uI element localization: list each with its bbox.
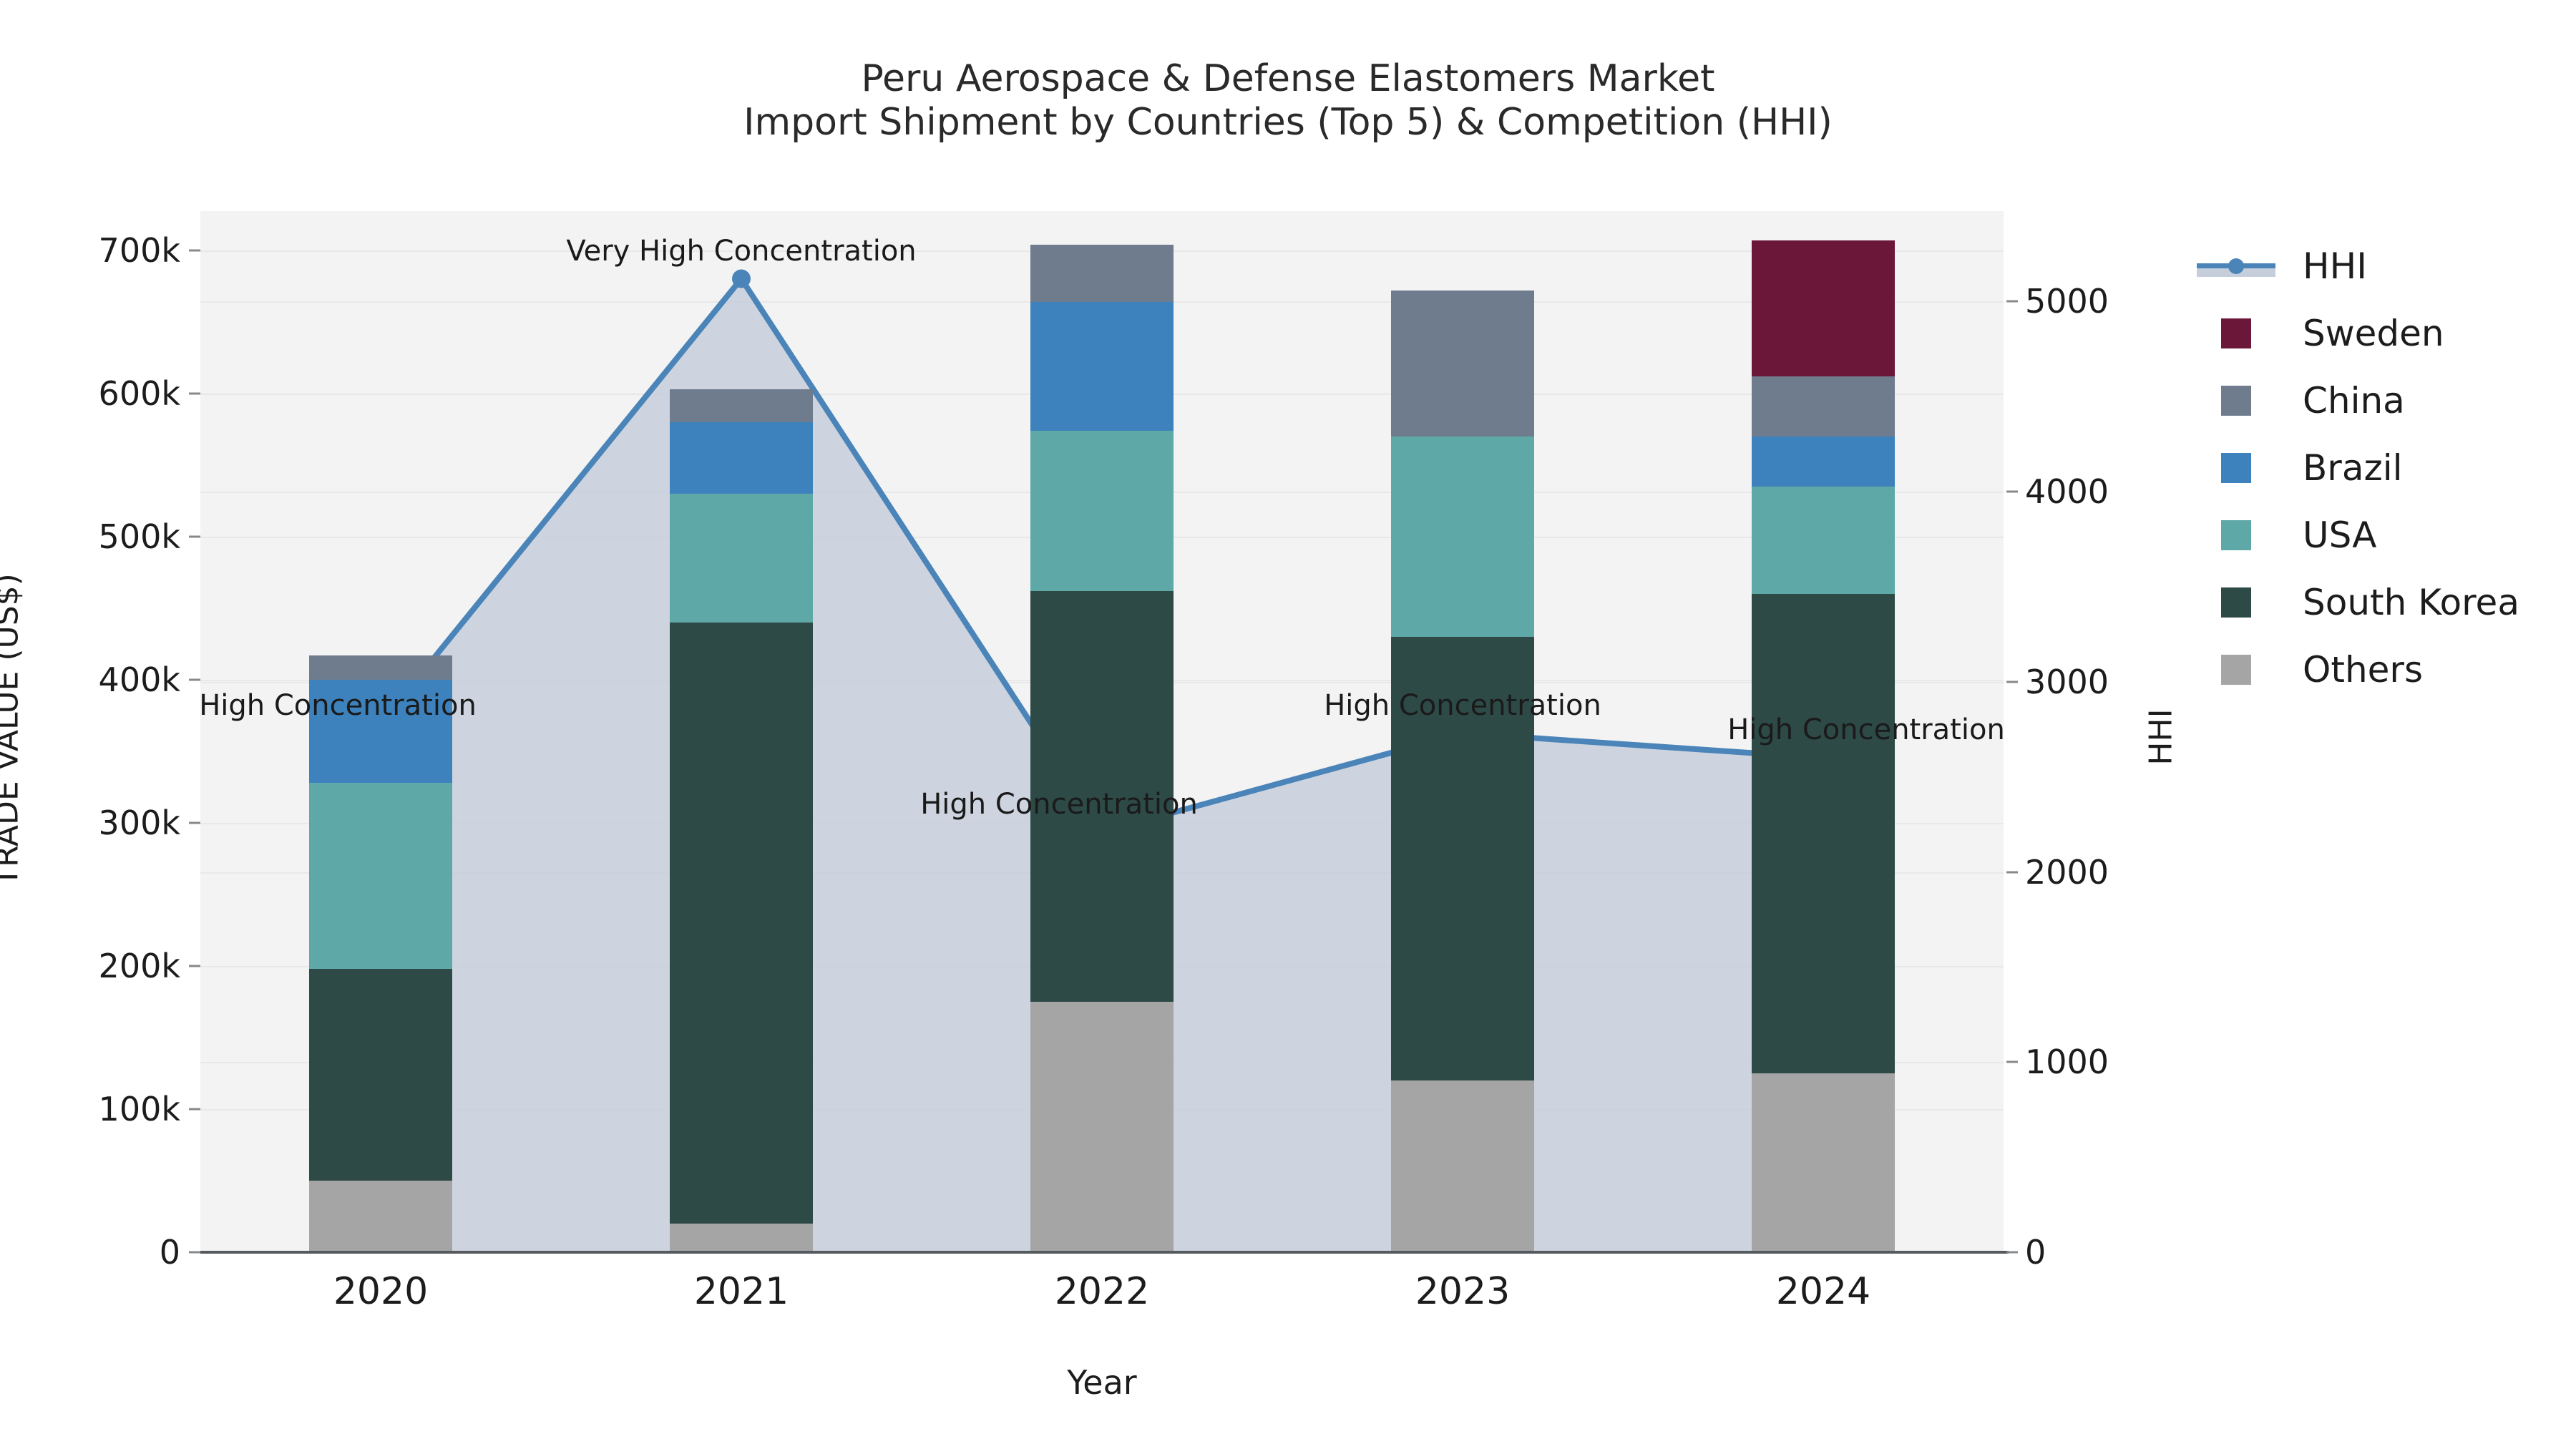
legend-color-swatch [2221, 318, 2251, 348]
y-axis-right-title: HHI [2143, 708, 2180, 765]
chart-root: Peru Aerospace & Defense Elastomers Mark… [0, 0, 2576, 1449]
legend-item-others[interactable]: Others [2197, 636, 2569, 703]
legend-color-swatch [2221, 520, 2251, 550]
legend-item-label: Others [2303, 649, 2423, 691]
y-axis-left-tick-mark [189, 822, 200, 824]
y-axis-right-tick-label: 3000 [2025, 663, 2109, 701]
y-axis-left-tick-mark [189, 965, 200, 967]
y-axis-left-title: TRADE VALUE (US$) [0, 573, 26, 887]
legend-item-hhi[interactable]: HHI [2197, 233, 2569, 300]
y-axis-right-tick-mark [2006, 301, 2018, 303]
legend-line-marker [2228, 258, 2244, 274]
y-axis-left-tick-label: 700k [0, 231, 180, 270]
y-axis-right-tick-mark [2006, 1061, 2018, 1063]
y-axis-left-tick-label: 200k [0, 947, 180, 985]
legend-swatch-wrap [2197, 587, 2275, 618]
x-axis-title: Year [1067, 1363, 1136, 1402]
y-axis-right-tick-label: 0 [2025, 1233, 2046, 1272]
y-axis-left-tick-label: 300k [0, 804, 180, 842]
x-axis-tick-label: 2022 [1055, 1270, 1149, 1313]
legend-item-label: South Korea [2303, 582, 2519, 623]
legend-line-icon [2197, 251, 2275, 281]
y-axis-right-tick-label: 4000 [2025, 472, 2109, 511]
legend-swatch-wrap [2197, 318, 2275, 348]
y-axis-left-tick-mark [189, 1108, 200, 1111]
legend-item-china[interactable]: China [2197, 367, 2569, 434]
y-axis-left-tick-label: 100k [0, 1090, 180, 1128]
y-axis-left-tick-mark [189, 536, 200, 538]
y-axis-right-tick-mark [2006, 680, 2018, 683]
y-axis-right-tick-mark [2006, 491, 2018, 493]
legend-item-label: USA [2303, 514, 2376, 556]
y-axis-left-tick-label: 600k [0, 374, 180, 413]
legend: HHISwedenChinaBrazilUSASouth KoreaOthers [2197, 233, 2569, 703]
x-axis-tick-label: 2021 [694, 1270, 789, 1313]
legend-item-label: China [2303, 380, 2405, 421]
legend-item-brazil[interactable]: Brazil [2197, 434, 2569, 502]
y-axis-left-tick-mark [189, 1252, 200, 1254]
legend-swatch-wrap [2197, 453, 2275, 483]
x-axis-tick-label: 2024 [1776, 1270, 1870, 1313]
y-axis-left-tick-mark [189, 250, 200, 252]
legend-color-swatch [2221, 655, 2251, 685]
legend-item-label: Sweden [2303, 313, 2444, 354]
y-axis-right-tick-mark [2006, 871, 2018, 873]
y-axis-left-tick-mark [189, 679, 200, 681]
legend-swatch-wrap [2197, 386, 2275, 416]
ticks-layer: 0100k200k300k400k500k600k700k01000200030… [0, 0, 2576, 1449]
y-axis-right-tick-label: 1000 [2025, 1043, 2109, 1081]
x-axis-tick-label: 2020 [333, 1270, 428, 1313]
y-axis-left-tick-mark [189, 393, 200, 395]
legend-swatch-wrap [2197, 655, 2275, 685]
legend-item-sweden[interactable]: Sweden [2197, 300, 2569, 367]
y-axis-left-tick-label: 500k [0, 517, 180, 556]
legend-color-swatch [2221, 386, 2251, 416]
legend-item-usa[interactable]: USA [2197, 502, 2569, 569]
y-axis-left-tick-label: 0 [0, 1233, 180, 1272]
y-axis-right-tick-label: 2000 [2025, 853, 2109, 892]
y-axis-right-tick-label: 5000 [2025, 282, 2109, 321]
legend-swatch-wrap [2197, 520, 2275, 550]
legend-item-label: HHI [2303, 245, 2367, 287]
legend-color-swatch [2221, 453, 2251, 483]
y-axis-left-tick-label: 400k [0, 660, 180, 699]
legend-item-label: Brazil [2303, 447, 2403, 489]
legend-item-south-korea[interactable]: South Korea [2197, 569, 2569, 636]
y-axis-right-tick-mark [2006, 1252, 2018, 1254]
legend-color-swatch [2221, 587, 2251, 618]
x-axis-tick-label: 2023 [1415, 1270, 1510, 1313]
